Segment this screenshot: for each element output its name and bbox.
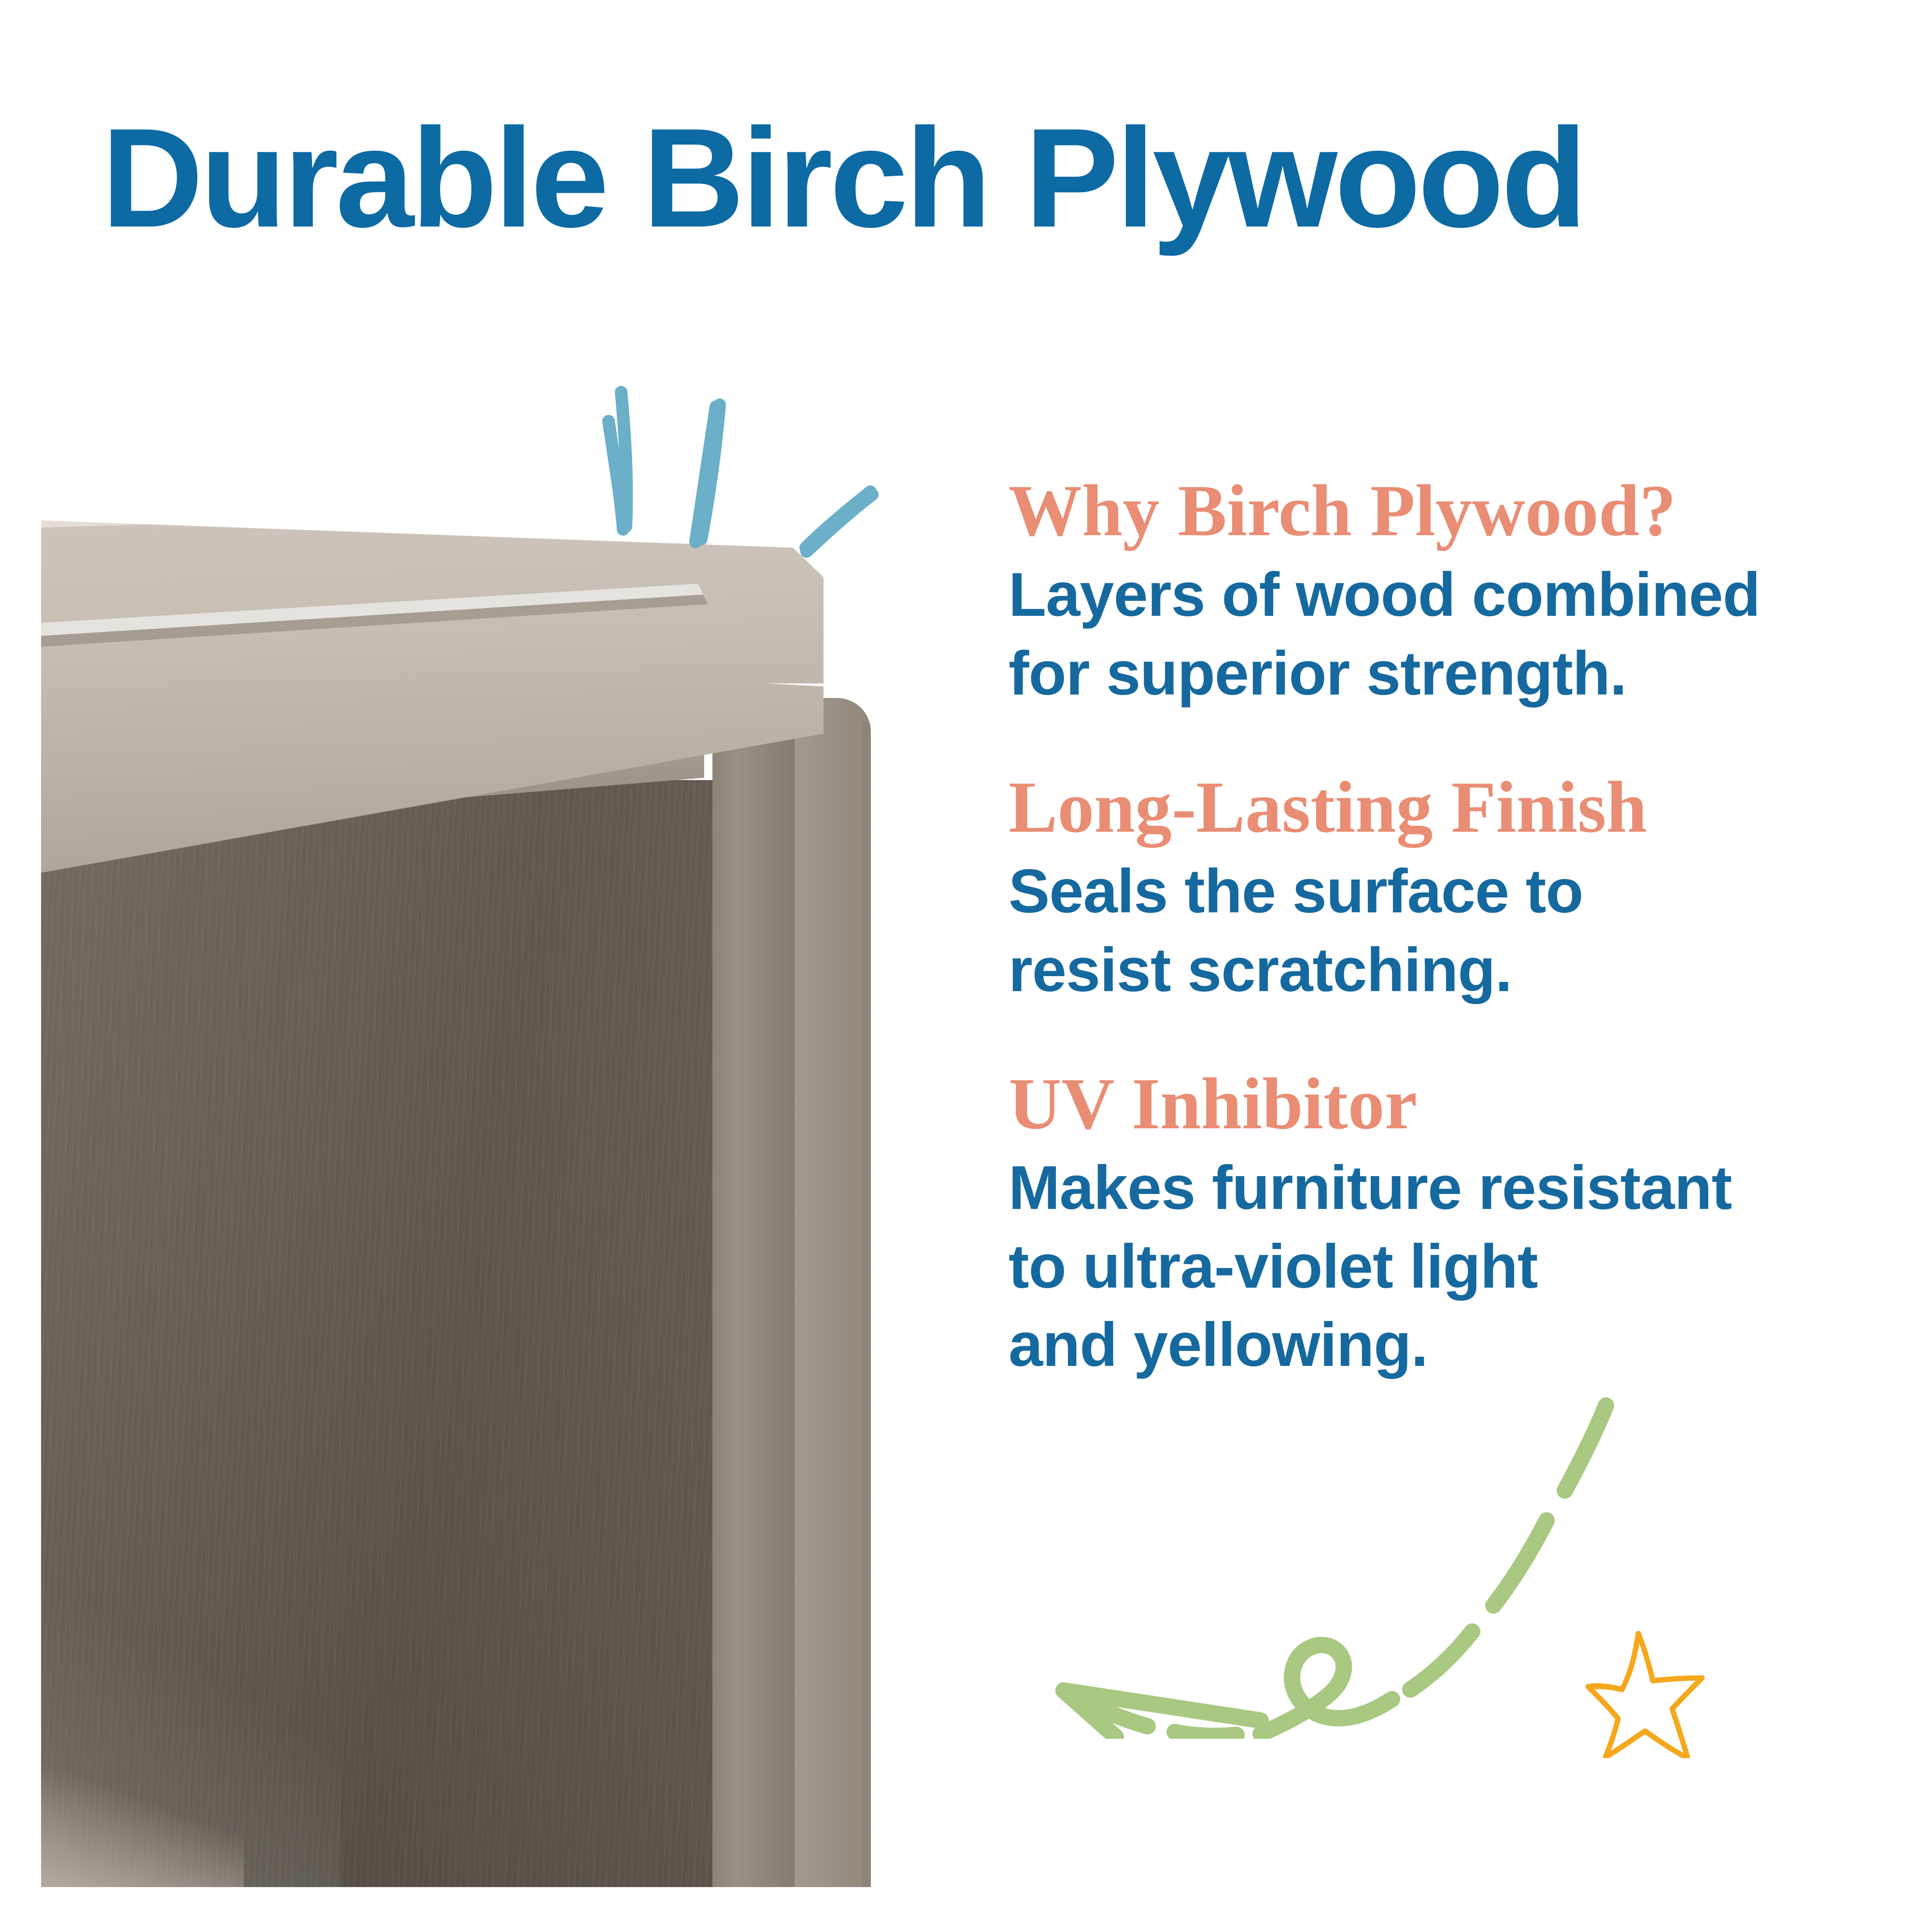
- product-photo: [41, 490, 871, 1887]
- feature-body: Layers of wood combined for superior str…: [1009, 556, 1878, 713]
- feature-heading: Why Birch Plywood?: [1009, 473, 1878, 548]
- photo-floor-reflection: [41, 1756, 244, 1887]
- feature-body: Makes furniture resistant to ultra-viole…: [1009, 1149, 1878, 1385]
- feature-body-line: and yellowing.: [1009, 1306, 1878, 1385]
- feature-heading: UV Inhibitor: [1009, 1066, 1878, 1141]
- feature-body-line: Makes furniture resistant: [1009, 1149, 1878, 1228]
- feature-item: Long-Lasting Finish Seals the surface to…: [1009, 770, 1878, 1009]
- feature-body-line: Layers of wood combined: [1009, 556, 1878, 635]
- feature-item: Why Birch Plywood? Layers of wood combin…: [1009, 473, 1878, 713]
- feature-body-line: Seals the surface to: [1009, 852, 1878, 931]
- hand-drawn-star-icon: [1584, 1623, 1715, 1758]
- feature-item: UV Inhibitor Makes furniture resistant t…: [1009, 1066, 1878, 1385]
- feature-body-line: to ultra-violet light: [1009, 1228, 1878, 1307]
- photo-drop-shadow: [862, 722, 871, 1887]
- curved-dashed-arrow-icon: [1034, 1391, 1642, 1739]
- feature-heading: Long-Lasting Finish: [1009, 770, 1878, 845]
- feature-body-line: resist scratching.: [1009, 931, 1878, 1010]
- feature-list: Why Birch Plywood? Layers of wood combin…: [1009, 473, 1878, 1385]
- page-title: Durable Birch Plywood: [101, 107, 1889, 248]
- sparkle-strokes-icon: [575, 382, 903, 584]
- photo-right-face: [795, 698, 871, 1887]
- feature-body: Seals the surface to resist scratching.: [1009, 852, 1878, 1009]
- feature-body-line: for superior strength.: [1009, 635, 1878, 713]
